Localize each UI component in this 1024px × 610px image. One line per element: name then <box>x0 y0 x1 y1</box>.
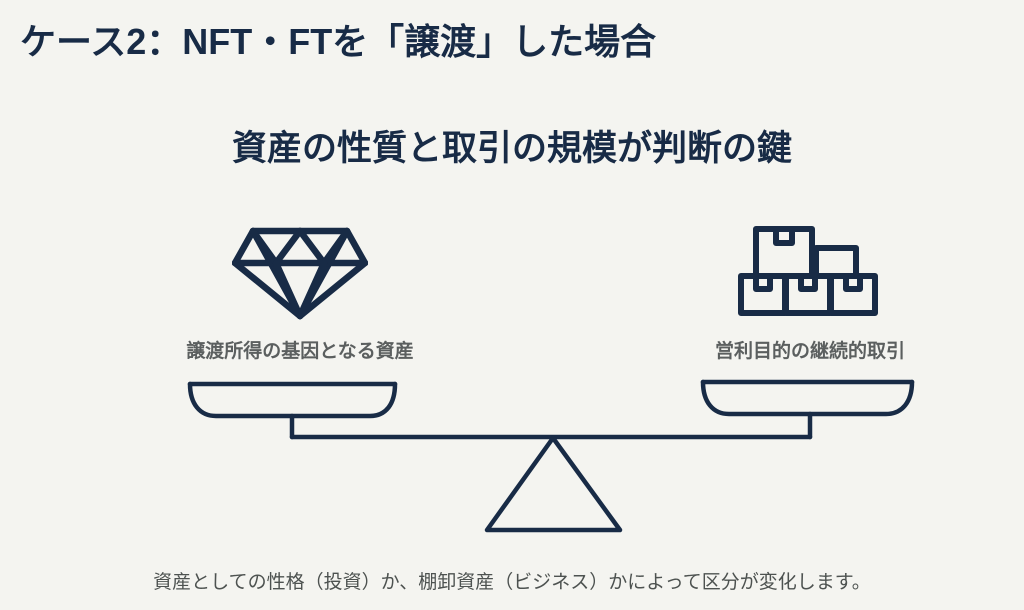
triangle-fulcrum <box>487 438 620 530</box>
subtitle: 資産の性質と取引の規模が判断の鍵 <box>0 128 1024 170</box>
right-pan <box>703 382 912 414</box>
page-title: ケース2：NFT・FTを「譲渡」した場合 <box>20 20 656 63</box>
right-pan-label: 営利目的の継続的取引 <box>610 336 1010 363</box>
left-pan <box>190 384 395 416</box>
slide-canvas: ケース2：NFT・FTを「譲渡」した場合 資産の性質と取引の規模が判断の鍵 <box>0 0 1024 610</box>
balance-scale <box>0 370 1024 550</box>
left-pan-label: 譲渡所得の基因となる資産 <box>100 336 500 363</box>
boxes-icon <box>738 226 878 316</box>
footer-caption: 資産としての性格（投資）か、棚卸資産（ビジネス）かによって区分が変化します。 <box>0 571 1024 596</box>
diamond-icon <box>232 218 368 326</box>
